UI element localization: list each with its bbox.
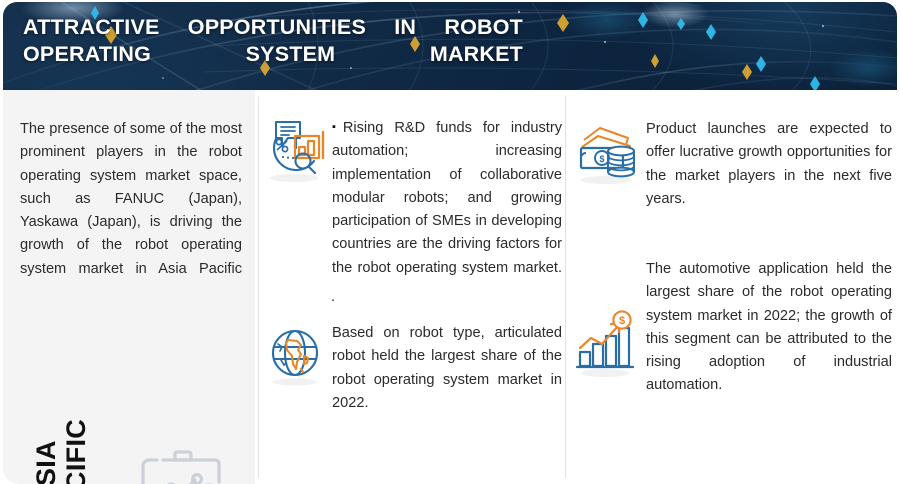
right-block-1: $ Product launches are expected to offer… [574, 118, 892, 234]
svg-text:$: $ [619, 315, 625, 327]
growth-bar-chart-dollar-icon: $ [574, 310, 640, 385]
region-label: ASIA PACIFIC [0, 408, 126, 484]
column-divider-left [258, 96, 259, 478]
left-region-panel: The presence of some of the most promine… [3, 90, 255, 484]
middle-block-2: Based on robot type, articulated robot h… [264, 322, 562, 438]
bullet-marker: ▪ [332, 121, 343, 133]
middle-block-1: ▪Rising R&D funds for industry automatio… [264, 116, 562, 303]
infographic-root: Attractive Opportunities in Robot Operat… [0, 0, 900, 484]
region-label-text: ASIA PACIFIC [31, 419, 91, 484]
money-cash-coins-icon: $ [574, 118, 640, 193]
middle-block-1-text: ▪Rising R&D funds for industry automatio… [332, 116, 562, 303]
right-block-2-text: The automotive application held the larg… [646, 258, 892, 421]
header-banner: Attractive Opportunities in Robot Operat… [3, 2, 897, 90]
column-divider-right [565, 96, 566, 478]
middle-block-2-text: Based on robot type, articulated robot h… [332, 322, 562, 438]
stray-punctuation-mark: . [331, 290, 335, 304]
right-block-1-text: Product launches are expected to offer l… [646, 118, 892, 234]
page-title: Attractive Opportunities in Robot Operat… [23, 14, 523, 90]
analytics-pie-bar-search-icon [264, 116, 328, 189]
presentation-chart-search-icon [129, 446, 241, 484]
right-block-2: $ The automotive application held the la… [574, 258, 892, 421]
svg-text:$: $ [599, 154, 604, 164]
middle-block-1-body: Rising R&D funds for industry automation… [332, 120, 562, 276]
globe-icon [264, 326, 326, 393]
left-panel-body-text: The presence of some of the most promine… [20, 118, 242, 304]
